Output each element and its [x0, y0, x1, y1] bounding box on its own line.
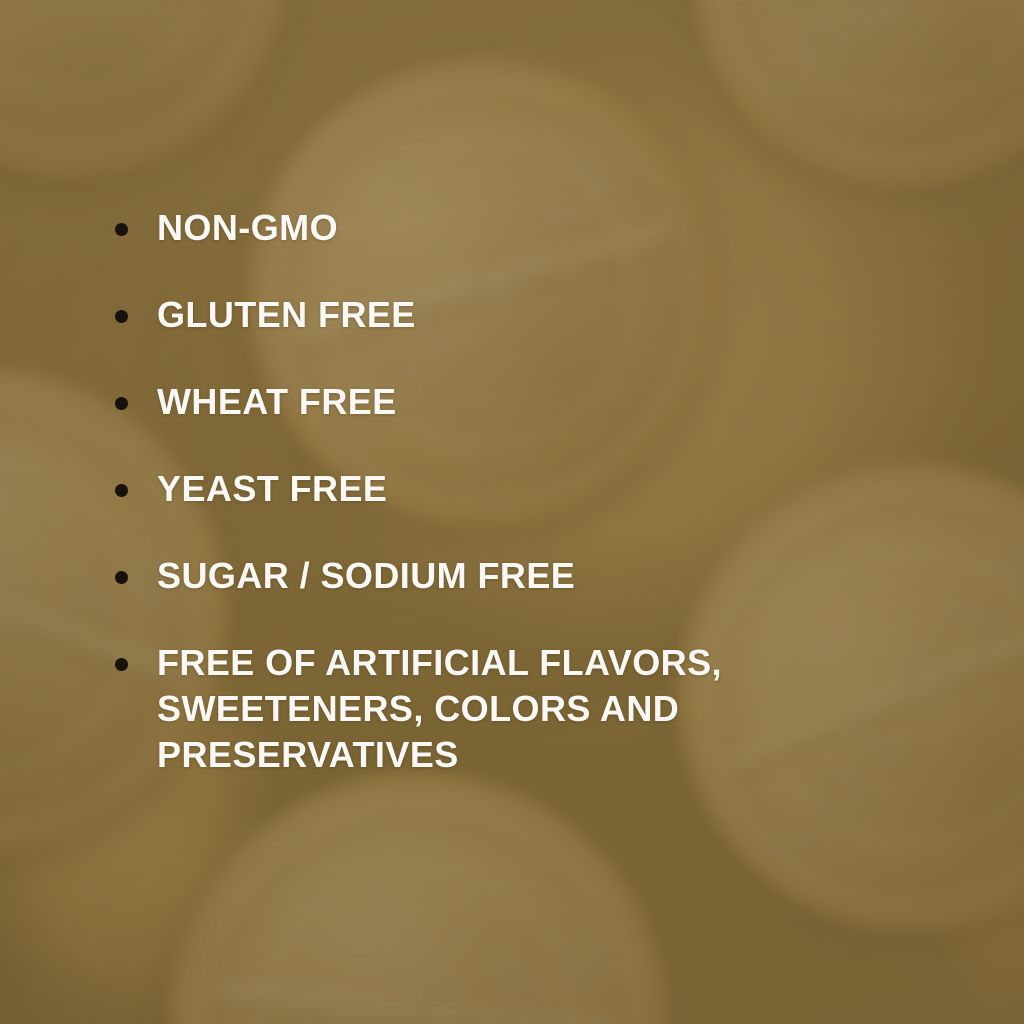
content-layer: NON-GMO GLUTEN FREE WHEAT FREE YEAST FRE… [0, 0, 1024, 1024]
list-item: SUGAR / SODIUM FREE [112, 553, 972, 599]
bullet-dot-icon [115, 310, 128, 323]
bullet-dot-icon [115, 397, 128, 410]
benefit-label: WHEAT FREE [157, 379, 847, 425]
list-item: WHEAT FREE [112, 379, 972, 425]
list-item: FREE OF ARTIFICIAL FLAVORS, SWEETENERS, … [112, 640, 972, 778]
bullet-dot-icon [115, 223, 128, 236]
benefit-label: YEAST FREE [157, 466, 847, 512]
benefits-list: NON-GMO GLUTEN FREE WHEAT FREE YEAST FRE… [112, 205, 972, 778]
list-item: YEAST FREE [112, 466, 972, 512]
list-item: NON-GMO [112, 205, 972, 251]
benefit-label: SUGAR / SODIUM FREE [157, 553, 847, 599]
bullet-dot-icon [115, 571, 128, 584]
bullet-dot-icon [115, 484, 128, 497]
list-item: GLUTEN FREE [112, 292, 972, 338]
benefit-label: NON-GMO [157, 205, 847, 251]
benefit-label: GLUTEN FREE [157, 292, 847, 338]
benefit-label: FREE OF ARTIFICIAL FLAVORS, SWEETENERS, … [157, 640, 847, 778]
product-benefits-graphic: SOLGAR SOLGAR SOLGAR [0, 0, 1024, 1024]
bullet-dot-icon [115, 658, 128, 671]
